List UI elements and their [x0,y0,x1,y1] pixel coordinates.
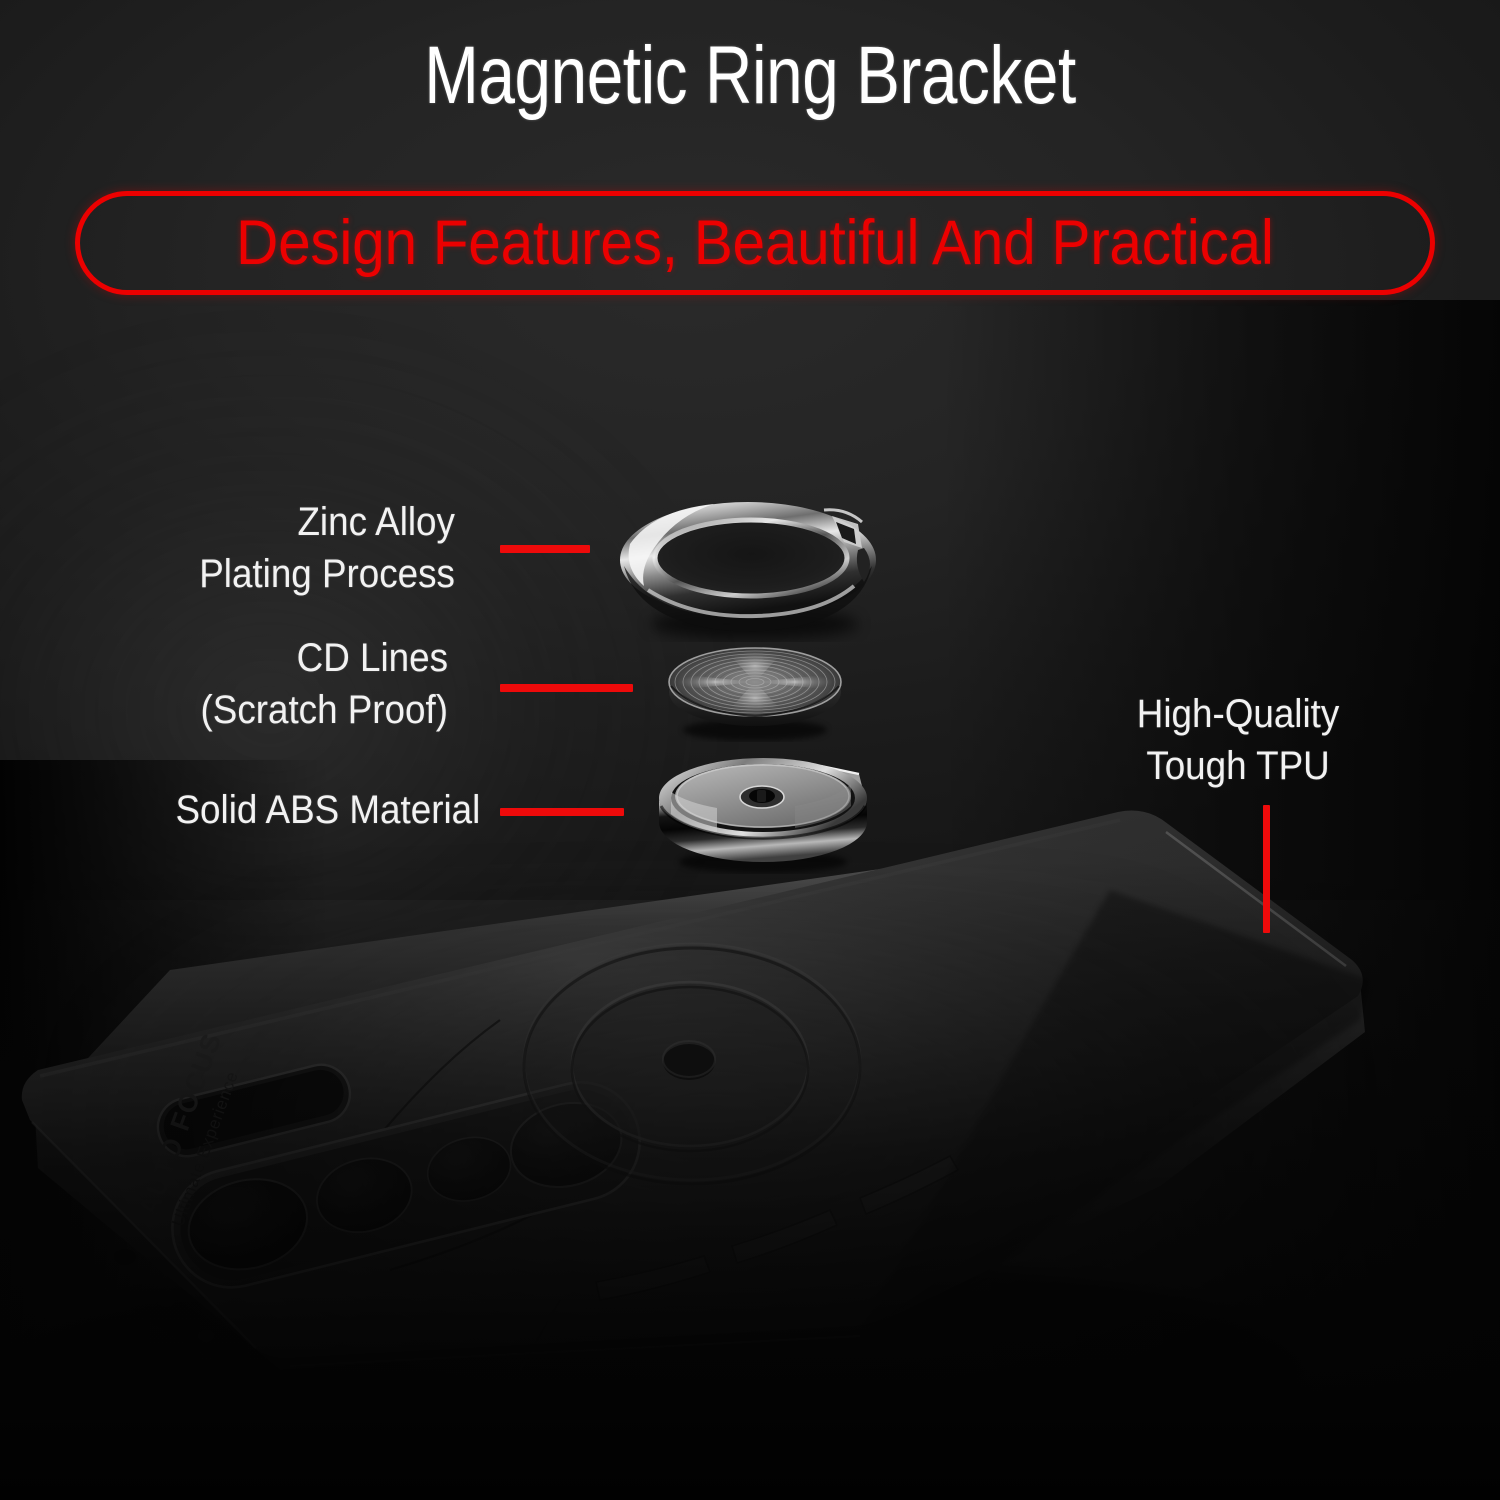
background-bottom-fade [0,860,1500,1500]
callout-zinc-alloy-line2: Plating Process [199,548,455,600]
part-cd-line-disc [655,634,855,742]
callout-solid-abs-line1: Solid ABS Material [175,784,480,836]
callout-zinc-alloy: Zinc Alloy Plating Process [199,496,455,600]
callout-cd-lines-line2: (Scratch Proof) [201,684,448,736]
page-title: Magnetic Ring Bracket [150,20,1350,132]
subtitle-pill-outline: Design Features, Beautiful And Practical [75,191,1435,295]
callout-tough-tpu-line2: Tough TPU [1137,740,1339,792]
page-subtitle: Design Features, Beautiful And Practical [236,208,1274,278]
callout-tough-tpu-line1: High-Quality [1137,688,1339,740]
leader-line-zinc-alloy [500,545,590,553]
callout-tough-tpu: High-Quality Tough TPU [1137,688,1339,792]
leader-line-solid-abs [500,808,624,816]
part-abs-base [645,744,880,874]
part-metal-finger-ring [596,492,906,642]
callout-solid-abs: Solid ABS Material [175,784,480,836]
callout-cd-lines-line1: CD Lines [201,632,448,684]
leader-line-cd-lines [500,684,633,692]
callout-zinc-alloy-line1: Zinc Alloy [199,496,455,548]
product-feature-image: Magnetic Ring Bracket Design Features, B… [0,0,1500,1500]
callout-cd-lines: CD Lines (Scratch Proof) [201,632,448,736]
leader-line-tough-tpu [1263,805,1270,933]
